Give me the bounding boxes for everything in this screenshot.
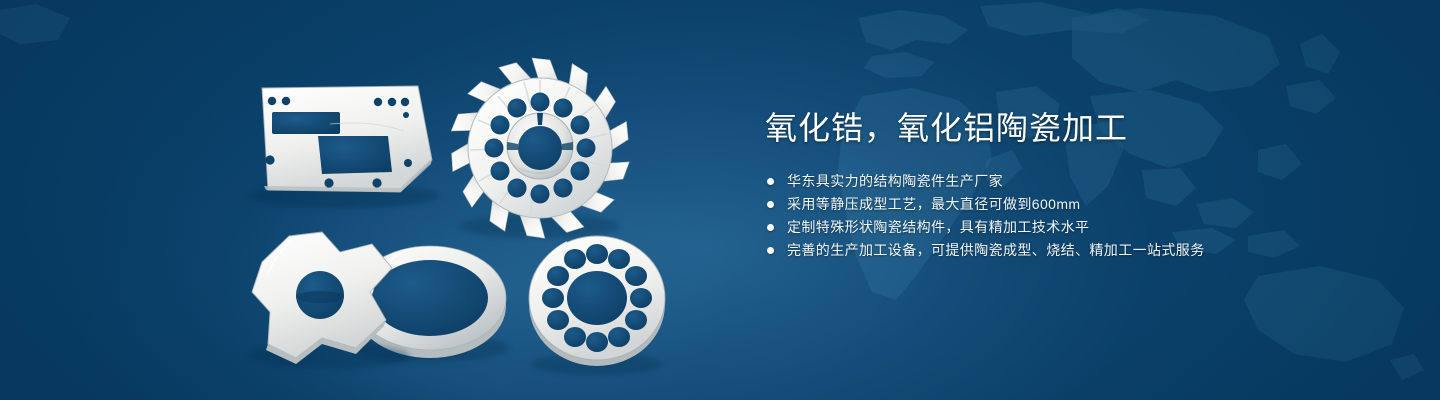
bullet-dot-icon xyxy=(767,247,774,254)
bullet-dot-icon xyxy=(767,178,774,185)
feature-text: 华东具实力的结构陶瓷件生产厂家 xyxy=(787,170,1003,193)
ceramic-plate-with-cutouts xyxy=(250,86,440,208)
feature-list-item: 采用等静压成型工艺，最大直径可做到600mm xyxy=(765,193,1365,216)
promo-banner: 氧化锆，氧化铝陶瓷加工 华东具实力的结构陶瓷件生产厂家 采用等静压成型工艺，最大… xyxy=(0,0,1440,400)
feature-list-item: 定制特殊形状陶瓷结构件，具有精加工技术水平 xyxy=(765,216,1365,239)
feature-list-item: 完善的生产加工设备，可提供陶瓷成型、烧结、精加工一站式服务 xyxy=(765,239,1365,262)
bullet-dot-icon xyxy=(767,201,774,208)
bullet-dot-icon xyxy=(767,224,774,231)
feature-text: 采用等静压成型工艺，最大直径可做到600mm xyxy=(787,193,1080,216)
ceramic-perforated-disc xyxy=(529,236,665,375)
banner-copy: 氧化锆，氧化铝陶瓷加工 华东具实力的结构陶瓷件生产厂家 采用等静压成型工艺，最大… xyxy=(765,108,1365,262)
feature-list: 华东具实力的结构陶瓷件生产厂家 采用等静压成型工艺，最大直径可做到600mm 定… xyxy=(765,170,1365,262)
feature-list-item: 华东具实力的结构陶瓷件生产厂家 xyxy=(765,170,1365,193)
ceramic-impeller-disc xyxy=(448,56,633,239)
product-photo-cluster xyxy=(0,0,720,400)
feature-text: 完善的生产加工设备，可提供陶瓷成型、烧结、精加工一站式服务 xyxy=(787,239,1205,262)
feature-text: 定制特殊形状陶瓷结构件，具有精加工技术水平 xyxy=(787,216,1089,239)
banner-headline: 氧化锆，氧化铝陶瓷加工 xyxy=(765,108,1365,148)
